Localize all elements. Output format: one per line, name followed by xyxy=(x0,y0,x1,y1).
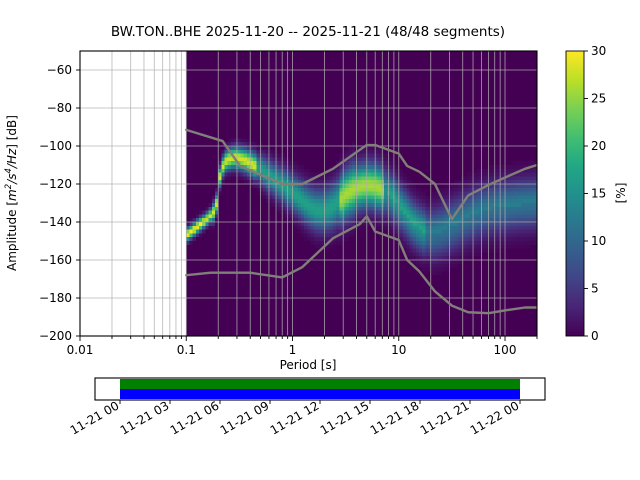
ppsd-figure: BW.TON..BHE 2025-11-20 -- 2025-11-21 (48… xyxy=(0,0,640,480)
y-tick-label: −180 xyxy=(39,291,72,305)
coverage-fill-blue xyxy=(120,389,520,399)
x-tick-label: 100 xyxy=(494,343,517,357)
y-tick-label: −80 xyxy=(47,101,72,115)
y-tick-label: −120 xyxy=(39,177,72,191)
x-tick-label: 0.1 xyxy=(177,343,196,357)
colorbar-tick-label: 30 xyxy=(591,44,606,58)
ppsd-heatmap xyxy=(186,51,537,336)
y-axis-label: Amplitude [m2/s4/Hz] [dB] xyxy=(4,115,19,271)
colorbar-tick-label: 0 xyxy=(591,329,599,343)
colorbar-tick-label: 10 xyxy=(591,234,606,248)
colorbar-label-text: [%] xyxy=(614,183,628,204)
y-tick-label: −100 xyxy=(39,139,72,153)
x-tick-label: 10 xyxy=(391,343,406,357)
x-tick-label: 1 xyxy=(289,343,297,357)
y-tick-label: −60 xyxy=(47,63,72,77)
x-axis-label: Period [s] xyxy=(280,358,337,372)
colorbar-tick-label: 20 xyxy=(591,139,606,153)
colorbar-label: [%] xyxy=(614,183,628,204)
coverage-fill-green xyxy=(120,379,520,389)
y-tick-label: −160 xyxy=(39,253,72,267)
figure-canvas: BW.TON..BHE 2025-11-20 -- 2025-11-21 (48… xyxy=(0,0,640,480)
y-tick-label: −200 xyxy=(39,329,72,343)
y-tick-label: −140 xyxy=(39,215,72,229)
colorbar-tick-label: 5 xyxy=(591,282,599,296)
colorbar-gradient xyxy=(566,51,584,336)
page-title: BW.TON..BHE 2025-11-20 -- 2025-11-21 (48… xyxy=(111,24,505,40)
svg-text:Amplitude [m2/s4/Hz] [dB]: Amplitude [m2/s4/Hz] [dB] xyxy=(4,115,19,271)
colorbar-tick-label: 15 xyxy=(591,187,606,201)
colorbar-tick-label: 25 xyxy=(591,92,606,106)
x-tick-label: 0.01 xyxy=(67,343,94,357)
